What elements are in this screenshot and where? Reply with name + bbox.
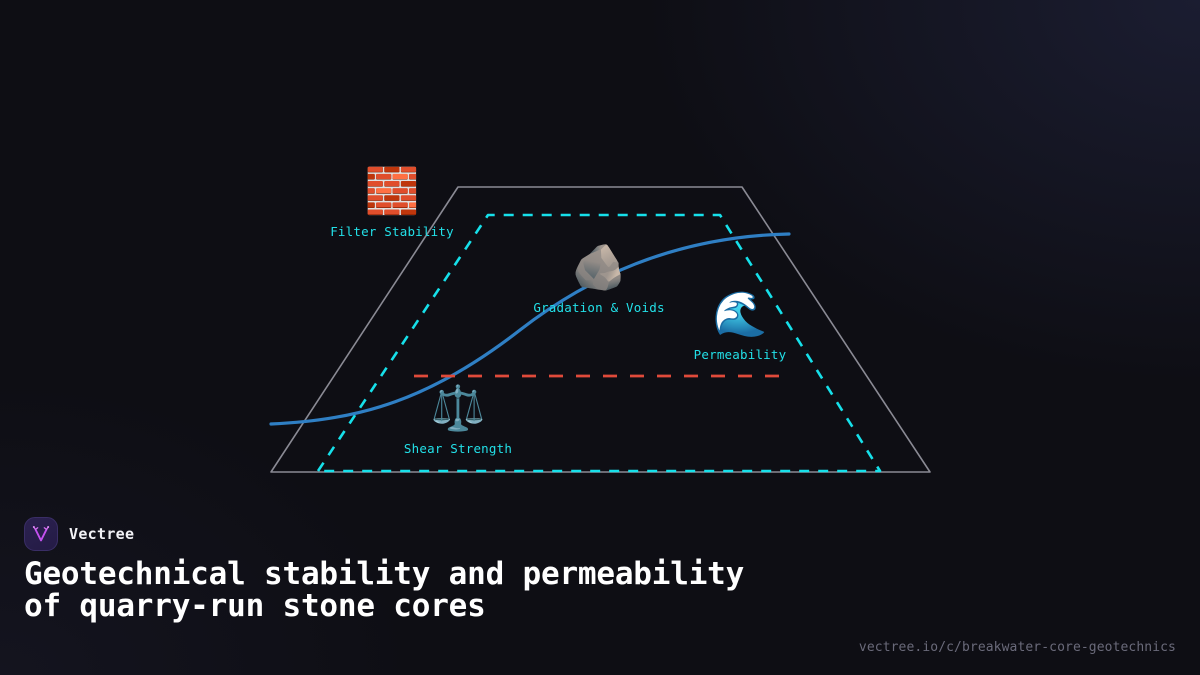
footer: Vectree Geotechnical stability and perme… bbox=[0, 490, 1200, 675]
annotation-label-gradation-and-voids: Gradation & Voids bbox=[533, 300, 664, 315]
annotation-label-shear-strength: Shear Strength bbox=[404, 441, 512, 456]
water-surface-curve bbox=[271, 234, 789, 424]
brick-wall-icon: 🧱 bbox=[365, 170, 420, 214]
brand-name: Vectree bbox=[69, 525, 134, 543]
source-url: vectree.io/c/breakwater-core-geotechnics bbox=[859, 640, 1176, 655]
wave-icon: 🌊 bbox=[713, 293, 768, 337]
annotation-label-permeability: Permeability bbox=[694, 347, 787, 362]
page-title: Geotechnical stability and permeability … bbox=[24, 558, 764, 622]
vectree-v-tree-icon bbox=[24, 517, 58, 551]
vectree-glyph bbox=[30, 523, 52, 545]
brand: Vectree bbox=[24, 517, 134, 551]
annotation-label-filter-stability: Filter Stability bbox=[330, 224, 454, 239]
diagram-canvas: 🧱 🪨 🌊 ⚖️ Filter Stability Gradation & Vo… bbox=[0, 0, 1200, 490]
rock-icon: 🪨 bbox=[572, 246, 627, 290]
balance-scale-icon: ⚖️ bbox=[431, 387, 486, 431]
